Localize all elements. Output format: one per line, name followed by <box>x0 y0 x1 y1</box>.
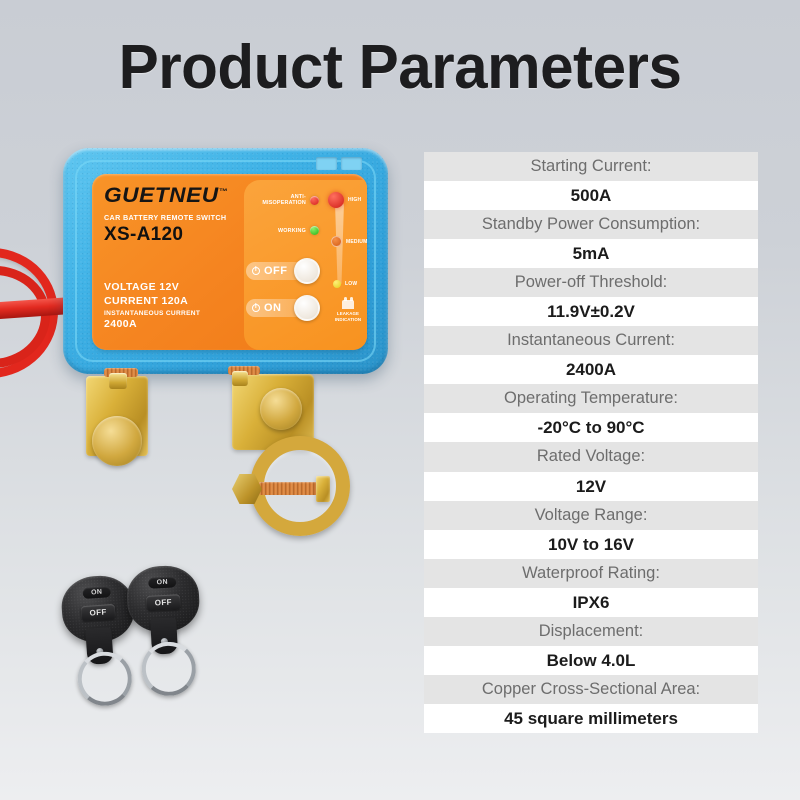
faceplate-control-panel: ANTI-MISOPERATION WORKING OFF <box>244 180 367 350</box>
device-faceplate: GUETNEU™ CAR BATTERY REMOTE SWITCH XS-A1… <box>92 174 367 350</box>
leakage-high-label: HIGH <box>348 197 361 203</box>
device-housing: GUETNEU™ CAR BATTERY REMOTE SWITCH XS-A1… <box>63 148 388 374</box>
rating-block: VOLTAGE 12V CURRENT 120A INSTANTANEOUS C… <box>104 280 200 330</box>
off-button[interactable]: OFF <box>246 258 332 284</box>
rating-voltage: VOLTAGE 12V <box>104 280 200 294</box>
spec-label: Displacement: <box>424 617 758 646</box>
trademark-symbol: ™ <box>219 187 228 196</box>
faceplate-branding: GUETNEU™ CAR BATTERY REMOTE SWITCH XS-A1… <box>104 184 244 246</box>
page-title: Product Parameters <box>12 32 788 103</box>
leakage-medium-label: MEDIUM <box>346 239 367 245</box>
off-button-label: OFF <box>264 265 288 277</box>
rating-instantaneous-label: INSTANTANEOUS CURRENT <box>104 310 200 317</box>
spec-label: Power-off Threshold: <box>424 268 758 297</box>
battery-icon <box>342 300 354 309</box>
rating-current: CURRENT 120A <box>104 294 200 308</box>
brand-text: GUETNEU <box>104 184 219 207</box>
led-red-icon <box>310 196 319 205</box>
power-button-group: OFF ON <box>246 258 332 332</box>
power-icon <box>252 267 260 275</box>
product-image: GUETNEU™ CAR BATTERY REMOTE SWITCH XS-A1… <box>0 120 420 760</box>
spec-value: -20°C to 90°C <box>424 413 758 442</box>
housing-vents <box>316 157 362 170</box>
spec-label: Operating Temperature: <box>424 384 758 413</box>
leakage-low-dot-icon <box>333 280 341 288</box>
model-number: XS-A120 <box>104 224 244 246</box>
indicator-anti-misoperation-label: ANTI-MISOPERATION <box>248 194 306 206</box>
spec-table: Starting Current:500AStandby Power Consu… <box>424 152 758 733</box>
terminal-right-screw <box>232 371 248 386</box>
indicator-working-label: WORKING <box>248 228 306 234</box>
spec-label: Copper Cross-Sectional Area: <box>424 675 758 704</box>
terminal-right-bolt-head <box>260 388 302 430</box>
spec-value: 12V <box>424 472 758 501</box>
led-green-icon <box>310 226 319 235</box>
spec-label: Voltage Range: <box>424 501 758 530</box>
spec-value: 500A <box>424 181 758 210</box>
spec-label: Instantaneous Current: <box>424 326 758 355</box>
remote-fob-2[interactable]: ON OFF <box>125 564 202 666</box>
spec-label: Waterproof Rating: <box>424 559 758 588</box>
terminal-left-screw <box>109 373 127 389</box>
indicator-anti-misoperation: ANTI-MISOPERATION <box>248 194 319 206</box>
spec-label: Starting Current: <box>424 152 758 181</box>
brand-name: GUETNEU™ <box>104 184 255 208</box>
terminal-left-knob <box>92 416 142 466</box>
remote-fob-2-on-button[interactable]: ON <box>148 576 177 588</box>
on-button-knob[interactable] <box>294 295 320 321</box>
clamp-washer <box>316 476 330 502</box>
brand-subtitle: CAR BATTERY REMOTE SWITCH <box>104 213 244 222</box>
spec-value: IPX6 <box>424 588 758 617</box>
spec-value: Below 4.0L <box>424 646 758 675</box>
spec-label: Standby Power Consumption: <box>424 210 758 239</box>
off-button-knob[interactable] <box>294 258 320 284</box>
indicator-working: WORKING <box>248 226 319 235</box>
leakage-level-high: HIGH <box>328 192 361 208</box>
leakage-indication-footer: LEAKAGE INDICATION <box>324 300 367 322</box>
remote-fob-1-keyring <box>76 650 134 708</box>
leakage-high-dot-icon <box>328 192 344 208</box>
leakage-footer-line2: INDICATION <box>324 317 367 323</box>
remote-fob-2-keyring <box>140 640 197 697</box>
spec-value: 45 square millimeters <box>424 704 758 733</box>
remote-fob-2-off-button[interactable]: OFF <box>146 594 181 611</box>
leakage-level-low: LOW <box>333 280 357 288</box>
spec-value: 10V to 16V <box>424 530 758 559</box>
remote-fob-1-on-button[interactable]: ON <box>82 586 111 599</box>
on-button-label: ON <box>264 302 282 314</box>
power-icon <box>252 304 260 312</box>
spec-value: 11.9V±0.2V <box>424 297 758 326</box>
spec-value: 5mA <box>424 239 758 268</box>
leakage-medium-dot-icon <box>331 236 342 247</box>
on-button[interactable]: ON <box>246 295 332 321</box>
remote-fob-1-off-button[interactable]: OFF <box>81 604 116 621</box>
rating-instantaneous-value: 2400A <box>104 318 200 330</box>
clamp-bolt-thread <box>258 482 320 495</box>
spec-label: Rated Voltage: <box>424 442 758 471</box>
spec-value: 2400A <box>424 355 758 384</box>
leakage-low-label: LOW <box>345 281 357 287</box>
leakage-level-medium: MEDIUM <box>331 236 367 247</box>
